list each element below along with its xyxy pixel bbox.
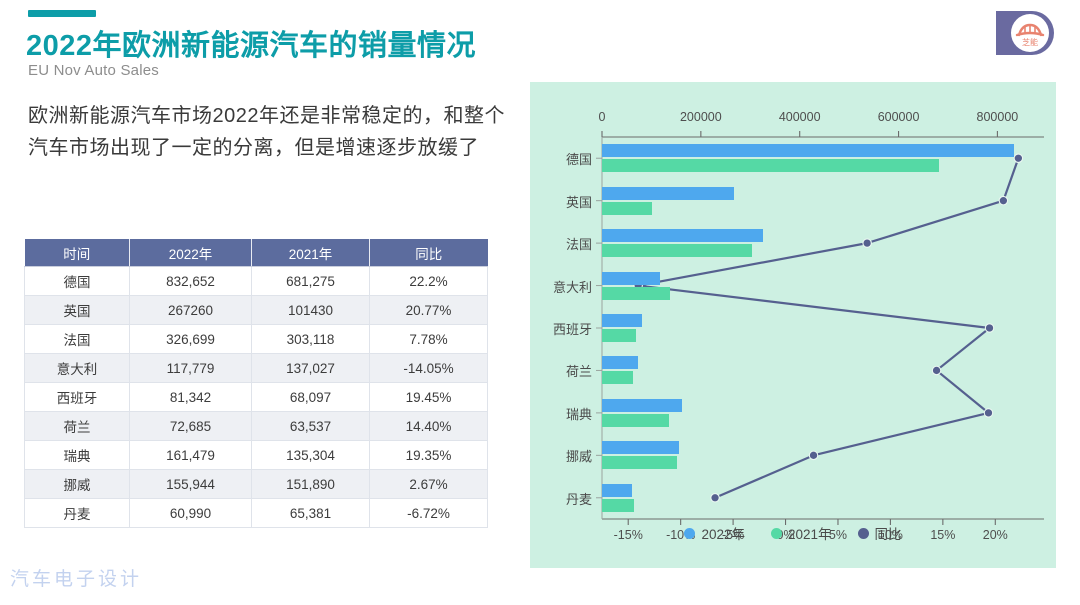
bar-2021 [602,499,634,512]
lead-paragraph: 欧洲新能源汽车市场2022年还是非常稳定的，和整个汽车市场出现了一定的分离，但是… [28,100,508,164]
table-cell: 303,118 [252,325,370,354]
table-cell: 德国 [25,267,130,296]
bar-2021 [602,414,669,427]
table-cell: 7.78% [370,325,488,354]
table-row: 法国326,699303,1187.78% [25,325,488,354]
table-cell: 19.35% [370,441,488,470]
legend-item[interactable]: 2022年 [684,523,745,543]
table-cell: 法国 [25,325,130,354]
table-cell: 22.2% [370,267,488,296]
table-cell: 瑞典 [25,441,130,470]
watermark-text: 汽车电子设计 [10,564,142,591]
top-axis-tick-label: 200000 [680,110,722,124]
chart-legend: 2022年2021年同比 [530,523,1056,543]
bar-2022 [602,229,763,242]
table-row: 英国26726010143020.77% [25,296,488,325]
category-label: 西班牙 [530,319,592,338]
legend-item[interactable]: 同比 [858,523,902,543]
brand-logo: 芝能 [992,7,1054,69]
table-cell: 155,944 [130,470,252,499]
table-cell: 68,097 [252,383,370,412]
line-data-point [809,451,817,459]
legend-label: 同比 [875,523,902,543]
table-cell: 60,990 [130,499,252,528]
chart-panel: 0200000400000600000800000-15%-10%-5%0%5%… [530,82,1056,568]
table-cell: 20.77% [370,296,488,325]
table-cell: 137,027 [252,354,370,383]
table-cell: 117,779 [130,354,252,383]
table-row: 瑞典161,479135,30419.35% [25,441,488,470]
line-data-point [999,196,1007,204]
line-data-point [863,239,871,247]
table-cell: -14.05% [370,354,488,383]
title-accent-bar [28,10,96,17]
bar-2021 [602,287,670,300]
legend-item[interactable]: 2021年 [771,523,832,543]
category-label: 法国 [530,234,592,253]
category-label: 荷兰 [530,361,592,380]
legend-label: 2021年 [788,523,832,543]
table-cell: 72,685 [130,412,252,441]
table-cell: 135,304 [252,441,370,470]
category-label: 挪威 [530,446,592,465]
page-title: 2022年欧洲新能源汽车的销量情况 [26,22,526,64]
bar-2022 [602,399,682,412]
top-axis-tick-label: 0 [599,110,606,124]
table-cell: 2.67% [370,470,488,499]
top-axis-tick-label: 600000 [878,110,920,124]
table-row: 丹麦60,99065,381-6.72% [25,499,488,528]
table-cell: 丹麦 [25,499,130,528]
top-axis-tick-label: 400000 [779,110,821,124]
top-axis-tick-label: 800000 [977,110,1019,124]
table-cell: 19.45% [370,383,488,412]
bar-2021 [602,329,636,342]
line-data-point [985,324,993,332]
left-content-column: 2022年欧洲新能源汽车的销量情况 EU Nov Auto Sales 欧洲新能… [0,0,530,605]
legend-swatch-icon [858,528,869,539]
table-cell: 63,537 [252,412,370,441]
line-data-point [984,409,992,417]
table-row: 西班牙81,34268,09719.45% [25,383,488,412]
bar-2022 [602,272,660,285]
bar-2021 [602,159,939,172]
car-logo-icon: 芝能 [992,7,1054,69]
table-cell: 267260 [130,296,252,325]
table-cell: 681,275 [252,267,370,296]
svg-text:芝能: 芝能 [1022,37,1038,47]
table-cell: 65,381 [252,499,370,528]
bar-2021 [602,202,652,215]
bar-2021 [602,244,752,257]
table-column-header: 时间 [25,239,130,267]
table-cell: 151,890 [252,470,370,499]
table-column-header: 2021年 [252,239,370,267]
table-row: 挪威155,944151,8902.67% [25,470,488,499]
table-cell: 西班牙 [25,383,130,412]
bar-2022 [602,484,632,497]
table-cell: 832,652 [130,267,252,296]
bar-2022 [602,356,638,369]
table-cell: 326,699 [130,325,252,354]
category-label: 德国 [530,149,592,168]
table-row: 德国832,652681,27522.2% [25,267,488,296]
category-label: 意大利 [530,277,592,296]
bar-2022 [602,441,679,454]
table-cell: -6.72% [370,499,488,528]
table-row: 荷兰72,68563,53714.40% [25,412,488,441]
table-cell: 意大利 [25,354,130,383]
table-column-header: 同比 [370,239,488,267]
category-label: 英国 [530,192,592,211]
table-cell: 挪威 [25,470,130,499]
sales-data-table: 时间 2022年 2021年 同比 德国832,652681,27522.2%英… [24,239,488,528]
bar-2022 [602,187,734,200]
category-label: 丹麦 [530,489,592,508]
category-label: 瑞典 [530,404,592,423]
legend-swatch-icon [684,528,695,539]
line-data-point [1014,154,1022,162]
page-subtitle: EU Nov Auto Sales [28,62,159,79]
table-body: 德国832,652681,27522.2%英国26726010143020.77… [25,267,488,528]
bar-2022 [602,314,642,327]
legend-swatch-icon [771,528,782,539]
bar-2021 [602,371,633,384]
bar-2021 [602,456,677,469]
legend-label: 2022年 [701,523,745,543]
line-data-point [932,366,940,374]
table-cell: 161,479 [130,441,252,470]
bar-2022 [602,144,1014,157]
plot-area: 0200000400000600000800000-15%-10%-5%0%5%… [530,82,1056,568]
table-cell: 101430 [252,296,370,325]
table-row: 意大利117,779137,027-14.05% [25,354,488,383]
table-column-header: 2022年 [130,239,252,267]
table-header-row: 时间 2022年 2021年 同比 [25,239,488,267]
line-data-point [711,494,719,502]
table-cell: 14.40% [370,412,488,441]
table-cell: 81,342 [130,383,252,412]
table-cell: 荷兰 [25,412,130,441]
table-cell: 英国 [25,296,130,325]
